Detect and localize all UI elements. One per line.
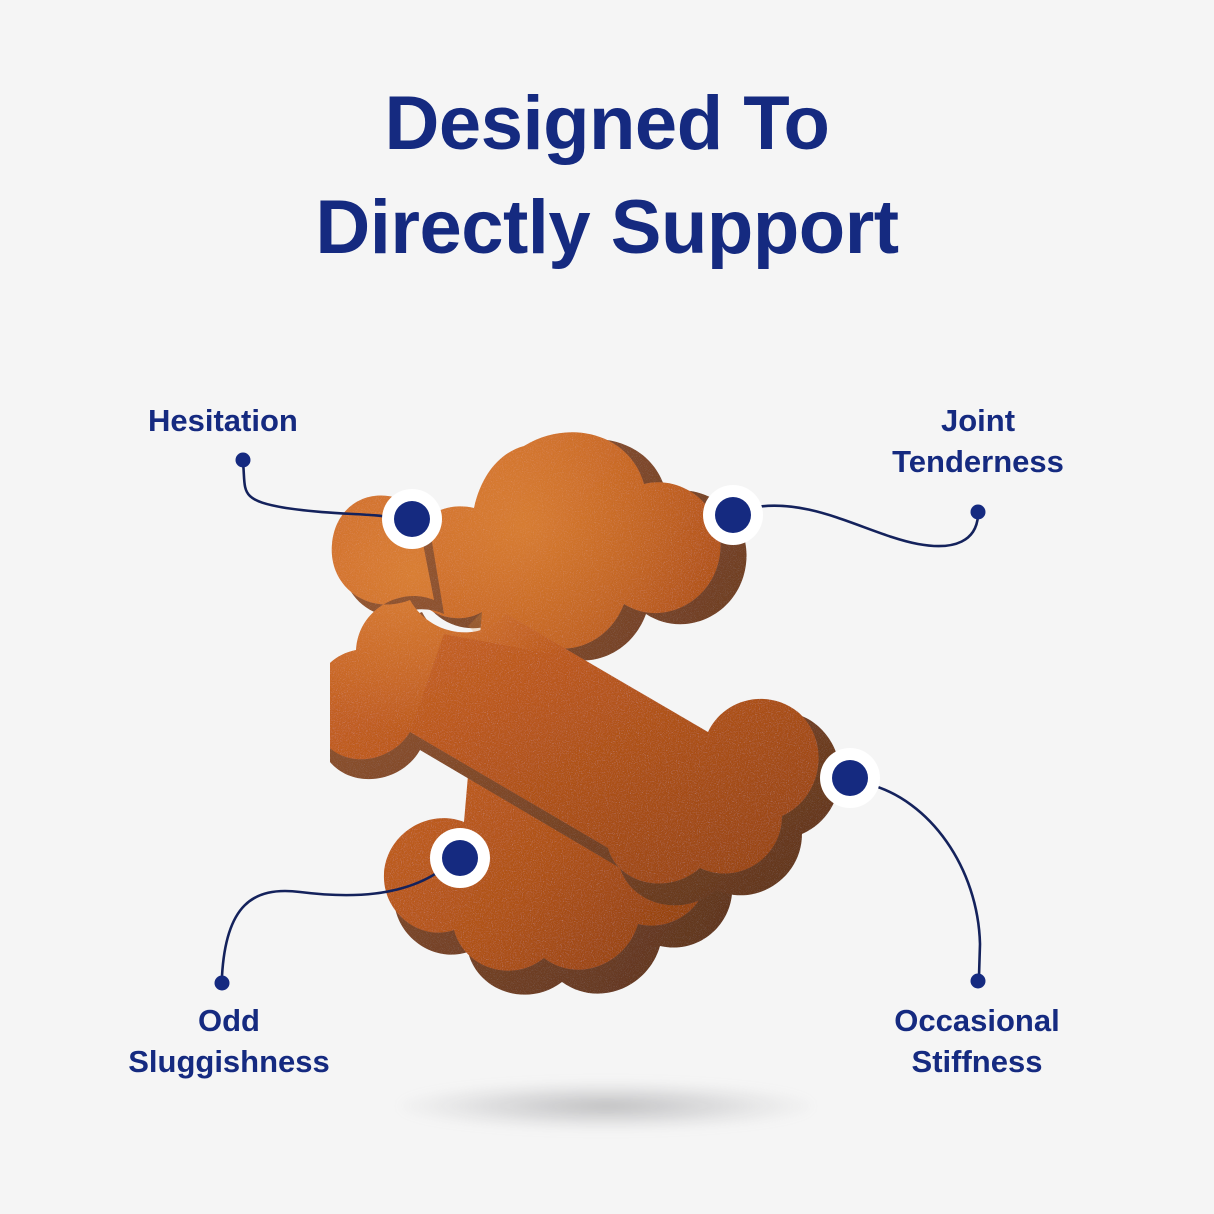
leader-tip-dot-joint-tenderness [971,505,986,520]
callout-label-occasional-stiffness-line-2: Stiffness [858,1041,1096,1082]
leader-tip-dot-hesitation [236,453,251,468]
callout-label-joint-tenderness: Joint Tenderness [860,400,1096,482]
callout-label-occasional-stiffness-line-1: Occasional [858,1000,1096,1041]
callout-label-joint-tenderness-line-2: Tenderness [860,441,1096,482]
callout-label-hesitation-line-1: Hesitation [148,400,298,441]
leader-tip-dot-odd-sluggishness [215,976,230,991]
page-title-line-2: Directly Support [0,176,1214,280]
page-title-line-1: Designed To [0,72,1214,176]
leader-tip-dot-occasional-stiffness [971,974,986,989]
product-ground-shadow [400,1082,812,1130]
infographic-canvas: Designed To Directly Support [0,0,1214,1214]
callout-label-joint-tenderness-line-1: Joint [860,400,1096,441]
callout-label-odd-sluggishness-line-1: Odd [100,1000,358,1041]
callout-label-occasional-stiffness: Occasional Stiffness [858,1000,1096,1082]
page-title: Designed To Directly Support [0,72,1214,280]
callout-label-odd-sluggishness: Odd Sluggishness [100,1000,358,1082]
dog-chew-treat-icon [330,398,890,1018]
callout-label-odd-sluggishness-line-2: Sluggishness [100,1041,358,1082]
callout-label-hesitation: Hesitation [148,400,298,441]
product-image [330,398,890,1018]
